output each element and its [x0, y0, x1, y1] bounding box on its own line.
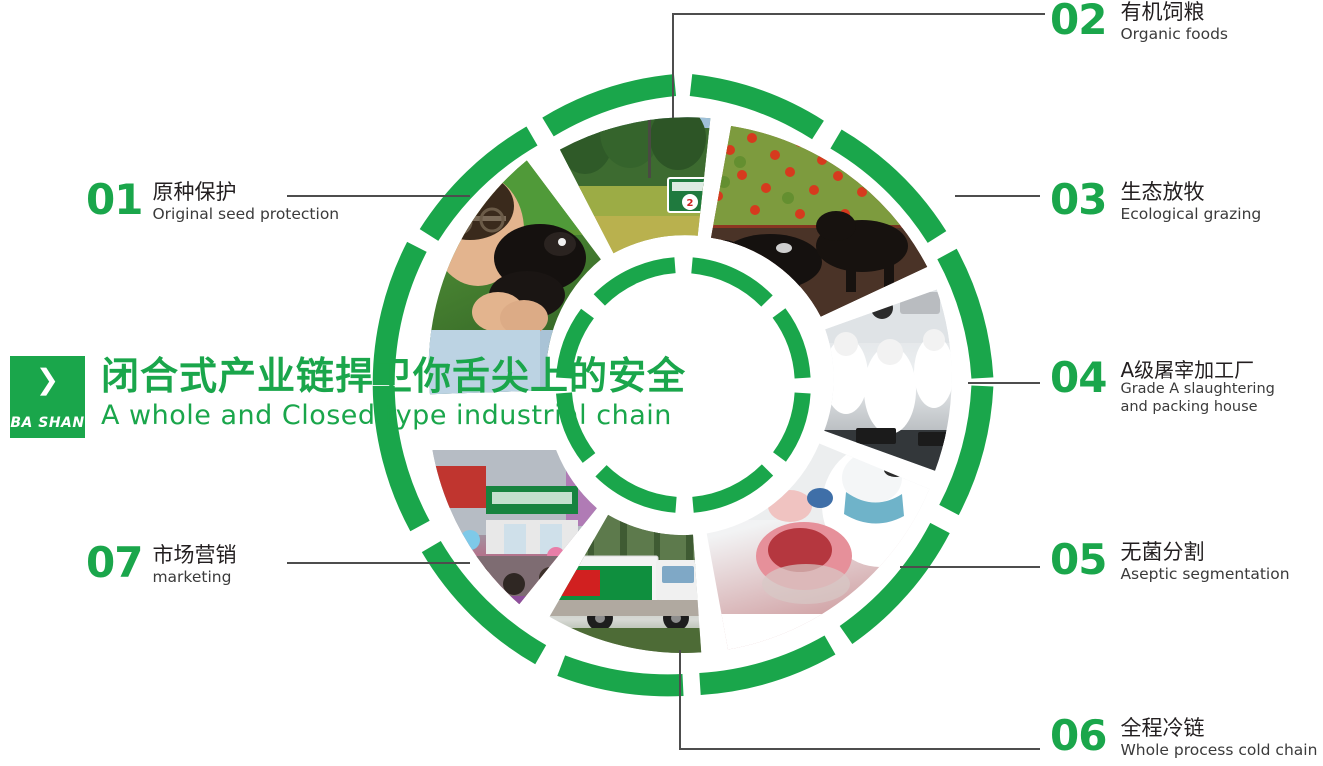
- step-label-06[interactable]: 06 全程冷链 Whole process cold chain: [1050, 716, 1317, 759]
- inner-arc-04b: [780, 393, 803, 457]
- step-label-05[interactable]: 05 无菌分割 Aseptic segmentation: [1050, 540, 1290, 583]
- infographic-canvas: 2: [0, 0, 1323, 766]
- wedge-photo-05: [690, 430, 950, 660]
- step-title-en-04-line1: Grade A slaughtering: [1120, 381, 1274, 398]
- step-number-01: 01: [86, 180, 142, 220]
- connector-06: [680, 650, 1040, 749]
- step-label-02[interactable]: 02 有机饲粮 Organic foods: [1050, 0, 1228, 43]
- brand-banner: ❯ BA SHAN 闭合式产业链捍卫你舌尖上的安全 A whole and Cl…: [10, 356, 686, 438]
- inner-arc-04a: [779, 313, 803, 378]
- inner-arc-06: [601, 471, 676, 505]
- step-label-01[interactable]: 01 原种保护 Original seed protection: [86, 180, 339, 223]
- step-title-cn-03: 生态放牧: [1120, 181, 1261, 205]
- svg-text:2: 2: [687, 198, 694, 209]
- step-title-en-01: Original seed protection: [152, 205, 339, 224]
- logo-wordmark: BA SHAN: [10, 415, 84, 431]
- step-label-04[interactable]: 04 A级屠宰加工厂 Grade A slaughtering and pack…: [1050, 358, 1275, 416]
- step-label-03[interactable]: 03 生态放牧 Ecological grazing: [1050, 180, 1261, 223]
- step-title-cn-06: 全程冷链: [1120, 717, 1317, 741]
- inner-arc-02a: [599, 265, 675, 300]
- ba-shan-logo[interactable]: ❯ BA SHAN: [10, 356, 85, 438]
- chevron-right-icon: ❯: [36, 366, 59, 394]
- step-title-en-02: Organic foods: [1120, 25, 1228, 44]
- step-label-07[interactable]: 07 市场营销 marketing: [86, 543, 236, 586]
- outer-arc-04a: [949, 386, 982, 510]
- step-title-cn-05: 无菌分割: [1120, 541, 1289, 565]
- step-title-en-06: Whole process cold chain: [1120, 741, 1317, 760]
- outer-arc-03a: [947, 254, 982, 378]
- step-title-cn-02: 有机饲粮: [1120, 1, 1228, 25]
- outer-arc-02a: [691, 85, 818, 130]
- inner-arc-03: [692, 265, 767, 301]
- step-number-02: 02: [1050, 0, 1106, 40]
- step-title-en-03: Ecological grazing: [1120, 205, 1261, 224]
- step-number-03: 03: [1050, 180, 1106, 220]
- step-number-05: 05: [1050, 540, 1106, 580]
- step-title-en-07: marketing: [152, 568, 236, 587]
- step-number-06: 06: [1050, 716, 1106, 756]
- step-number-07: 07: [86, 543, 142, 583]
- outer-arc-06b: [700, 645, 830, 684]
- headline-en: A whole and Closed type industrial chain: [101, 400, 686, 432]
- step-title-en-05: Aseptic segmentation: [1120, 565, 1289, 584]
- step-title-en-04-line2: and packing house: [1120, 399, 1274, 416]
- step-title-cn-07: 市场营销: [152, 544, 236, 568]
- headline-cn: 闭合式产业链捍卫你舌尖上的安全: [101, 356, 686, 397]
- inner-arc-05: [693, 470, 768, 505]
- wedge-photo-03: [690, 110, 940, 330]
- step-title-cn-04: A级屠宰加工厂: [1120, 359, 1274, 381]
- step-number-04: 04: [1050, 358, 1106, 398]
- outer-arc-06a: [561, 666, 683, 686]
- step-title-cn-01: 原种保护: [152, 181, 339, 205]
